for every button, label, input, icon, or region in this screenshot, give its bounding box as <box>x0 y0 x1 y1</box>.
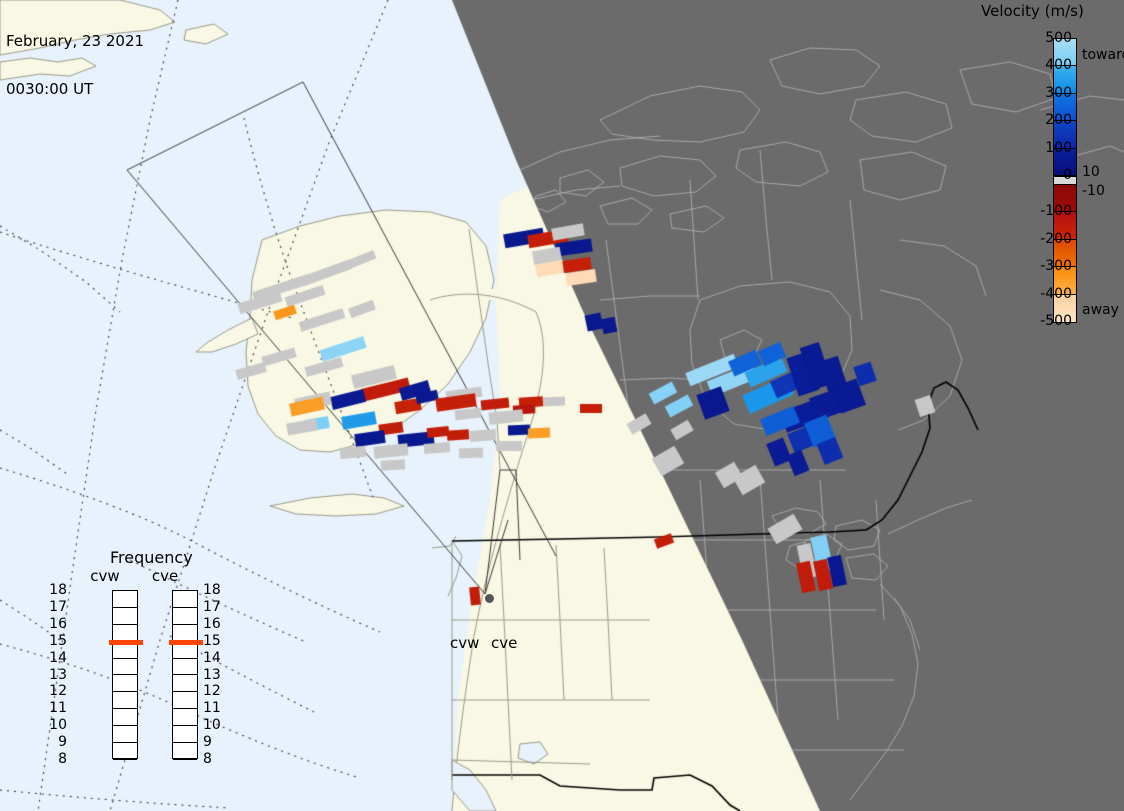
frequency-segment <box>113 692 137 709</box>
colorbar-tick-neg400: -400 <box>1012 287 1072 301</box>
frequency-tick-15: 15 <box>203 634 221 648</box>
frequency-segment <box>173 591 197 608</box>
colorbar-tick-200: 200 <box>1012 113 1072 127</box>
frequency-tick-10: 10 <box>49 718 67 732</box>
frequency-segment <box>173 743 197 760</box>
colorbar-tick-300: 300 <box>1012 86 1072 100</box>
colorbar-title: Velocity (m/s) <box>981 2 1084 20</box>
colorbar-tick-neg100: -100 <box>1012 204 1072 218</box>
frequency-segment <box>173 692 197 709</box>
frequency-radar-name: cvw <box>90 569 119 584</box>
frequency-tick-14: 14 <box>203 651 221 665</box>
frequency-tick-16: 16 <box>49 617 67 631</box>
frequency-tick-18: 18 <box>49 583 67 597</box>
frequency-bar <box>172 590 198 759</box>
frequency-segment <box>113 676 137 693</box>
frequency-tick-11: 11 <box>49 701 67 715</box>
colorbar-tick-100: 100 <box>1012 141 1072 155</box>
frequency-segment <box>173 659 197 676</box>
frequency-tick-17: 17 <box>203 600 221 614</box>
frequency-tick-10: 10 <box>203 718 221 732</box>
frequency-bar <box>112 590 138 759</box>
frequency-segment <box>173 676 197 693</box>
timestamp: February, 23 2021 0030:00 UT <box>6 1 144 129</box>
frequency-segment <box>113 726 137 743</box>
colorbar-tick-neg300: -300 <box>1012 259 1072 273</box>
frequency-tick-17: 17 <box>49 600 67 614</box>
frequency-legend: Frequency cvw18171615141312111098cve1817… <box>85 545 250 785</box>
colorbar-label-neg-threshold: -10 <box>1082 184 1105 198</box>
colorbar-label-away: away <box>1082 303 1119 317</box>
colorbar-tick-0: 0 <box>1012 168 1072 182</box>
colorbar-label-pos-threshold: 10 <box>1082 165 1100 179</box>
radar-site-marker <box>485 594 494 603</box>
frequency-radar-name: cve <box>152 569 178 584</box>
frequency-segment <box>113 709 137 726</box>
site-label-cve: cve <box>491 636 517 651</box>
frequency-segment <box>113 591 137 608</box>
frequency-tick-14: 14 <box>49 651 67 665</box>
colorbar-tick-neg200: -200 <box>1012 232 1072 246</box>
frequency-segment <box>113 608 137 625</box>
frequency-segment <box>173 608 197 625</box>
frequency-tick-9: 9 <box>58 735 67 749</box>
frequency-tick-18: 18 <box>203 583 221 597</box>
frequency-marker-cvw <box>109 640 143 645</box>
colorbar-tick-neg500: -500 <box>1012 314 1072 328</box>
velocity-colorbar: Velocity (m/s) 5004003002001000-100-200-… <box>975 0 1124 340</box>
timestamp-date: February, 23 2021 <box>6 33 144 49</box>
frequency-tick-12: 12 <box>49 684 67 698</box>
colorbar-label-toward: toward <box>1082 48 1124 62</box>
colorbar-tick-400: 400 <box>1012 58 1072 72</box>
frequency-tick-9: 9 <box>203 735 212 749</box>
frequency-marker-cve <box>169 640 203 645</box>
frequency-tick-15: 15 <box>49 634 67 648</box>
frequency-tick-13: 13 <box>49 668 67 682</box>
frequency-tick-16: 16 <box>203 617 221 631</box>
frequency-title: Frequency <box>110 548 193 567</box>
frequency-segment <box>113 659 137 676</box>
timestamp-time: 0030:00 UT <box>6 81 144 97</box>
frequency-segment <box>113 743 137 760</box>
frequency-tick-11: 11 <box>203 701 221 715</box>
frequency-tick-12: 12 <box>203 684 221 698</box>
frequency-tick-8: 8 <box>58 752 67 766</box>
frequency-segment <box>173 709 197 726</box>
site-label-cvw: cvw <box>450 636 479 651</box>
frequency-tick-13: 13 <box>203 668 221 682</box>
frequency-segment <box>173 726 197 743</box>
radar-velocity-map: February, 23 2021 0030:00 UT Velocity (m… <box>0 0 1124 811</box>
colorbar-tick-500: 500 <box>1012 31 1072 45</box>
frequency-tick-8: 8 <box>203 752 212 766</box>
